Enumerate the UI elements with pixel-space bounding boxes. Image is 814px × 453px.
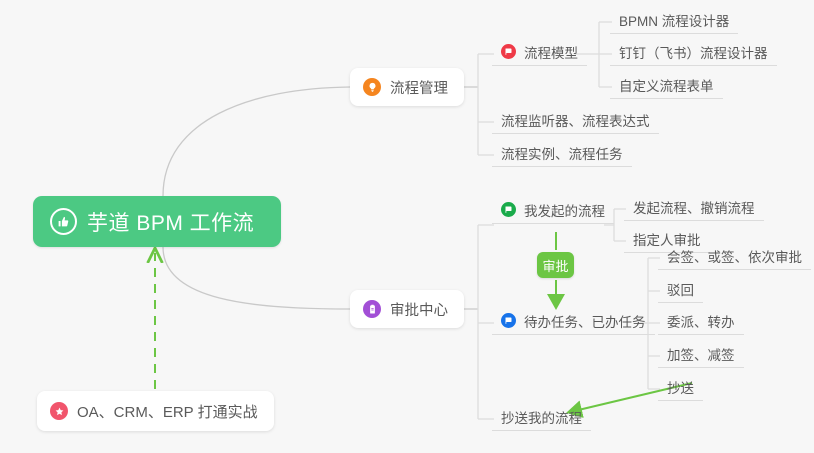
leaf-instance-task[interactable]: 流程实例、流程任务 (492, 142, 632, 167)
leaf-wo-faqi-de-liucheng[interactable]: 我发起的流程 (492, 199, 614, 224)
floating-node-oa-crm-erp[interactable]: OA、CRM、ERP 打通实战 (37, 391, 274, 431)
root-label: 芋道 BPM 工作流 (87, 207, 254, 237)
annotation-chip-shenpi[interactable]: 审批 (537, 252, 574, 278)
leaf-bohui[interactable]: 驳回 (658, 278, 703, 303)
leaf-label: 发起流程、撤销流程 (633, 197, 755, 217)
branch-label: 流程管理 (390, 77, 448, 98)
star-icon (50, 402, 68, 420)
branch-node-shenpi-zhongxin[interactable]: 审批中心 (350, 290, 464, 328)
leaf-label: 加签、减签 (667, 344, 735, 364)
leaf-huiqian-huoqian[interactable]: 会签、或签、依次审批 (658, 245, 811, 270)
mindmap-canvas: 芋道 BPM 工作流 流程管理 审批中心 (0, 0, 814, 453)
leaf-label: 抄送 (667, 377, 694, 397)
leaf-label: 钉钉（飞书）流程设计器 (619, 42, 768, 62)
leaf-jiaqian-jianqian[interactable]: 加签、减签 (658, 343, 744, 368)
leaf-custom-form[interactable]: 自定义流程表单 (610, 74, 723, 99)
leaf-label: 自定义流程表单 (619, 75, 714, 95)
lightbulb-icon (363, 78, 381, 96)
annotation-label: 审批 (542, 256, 568, 275)
floating-node-label: OA、CRM、ERP 打通实战 (77, 401, 258, 422)
leaf-label: BPMN 流程设计器 (619, 10, 729, 30)
root-node[interactable]: 芋道 BPM 工作流 (33, 196, 281, 247)
leaf-faqi-chexiao[interactable]: 发起流程、撤销流程 (624, 196, 764, 221)
leaf-chaosong[interactable]: 抄送 (658, 376, 703, 401)
clipboard-icon (363, 300, 381, 318)
flag-icon (501, 44, 516, 59)
leaf-label: 流程模型 (524, 42, 578, 62)
flag-icon (501, 313, 516, 328)
thumbs-up-icon (50, 208, 77, 235)
branch-label: 审批中心 (390, 299, 448, 320)
branch-node-liucheng-guanli[interactable]: 流程管理 (350, 68, 464, 106)
flag-icon (501, 202, 516, 217)
leaf-dingtalk-designer[interactable]: 钉钉（飞书）流程设计器 (610, 41, 777, 66)
leaf-label: 驳回 (667, 279, 694, 299)
leaf-label: 待办任务、已办任务 (524, 311, 646, 331)
leaf-label: 我发起的流程 (524, 200, 605, 220)
leaf-daiban-renwu[interactable]: 待办任务、已办任务 (492, 310, 655, 335)
leaf-label: 流程监听器、流程表达式 (501, 110, 650, 130)
leaf-liucheng-moxing[interactable]: 流程模型 (492, 41, 587, 66)
leaf-chaosong-wo-de-liucheng[interactable]: 抄送我的流程 (492, 406, 591, 431)
leaf-label: 抄送我的流程 (501, 407, 582, 427)
leaf-bpmn-designer[interactable]: BPMN 流程设计器 (610, 9, 738, 34)
leaf-listener-expression[interactable]: 流程监听器、流程表达式 (492, 109, 659, 134)
leaf-label: 会签、或签、依次审批 (667, 246, 802, 266)
leaf-weipai-zhuanban[interactable]: 委派、转办 (658, 310, 744, 335)
leaf-label: 流程实例、流程任务 (501, 143, 623, 163)
leaf-label: 委派、转办 (667, 311, 735, 331)
